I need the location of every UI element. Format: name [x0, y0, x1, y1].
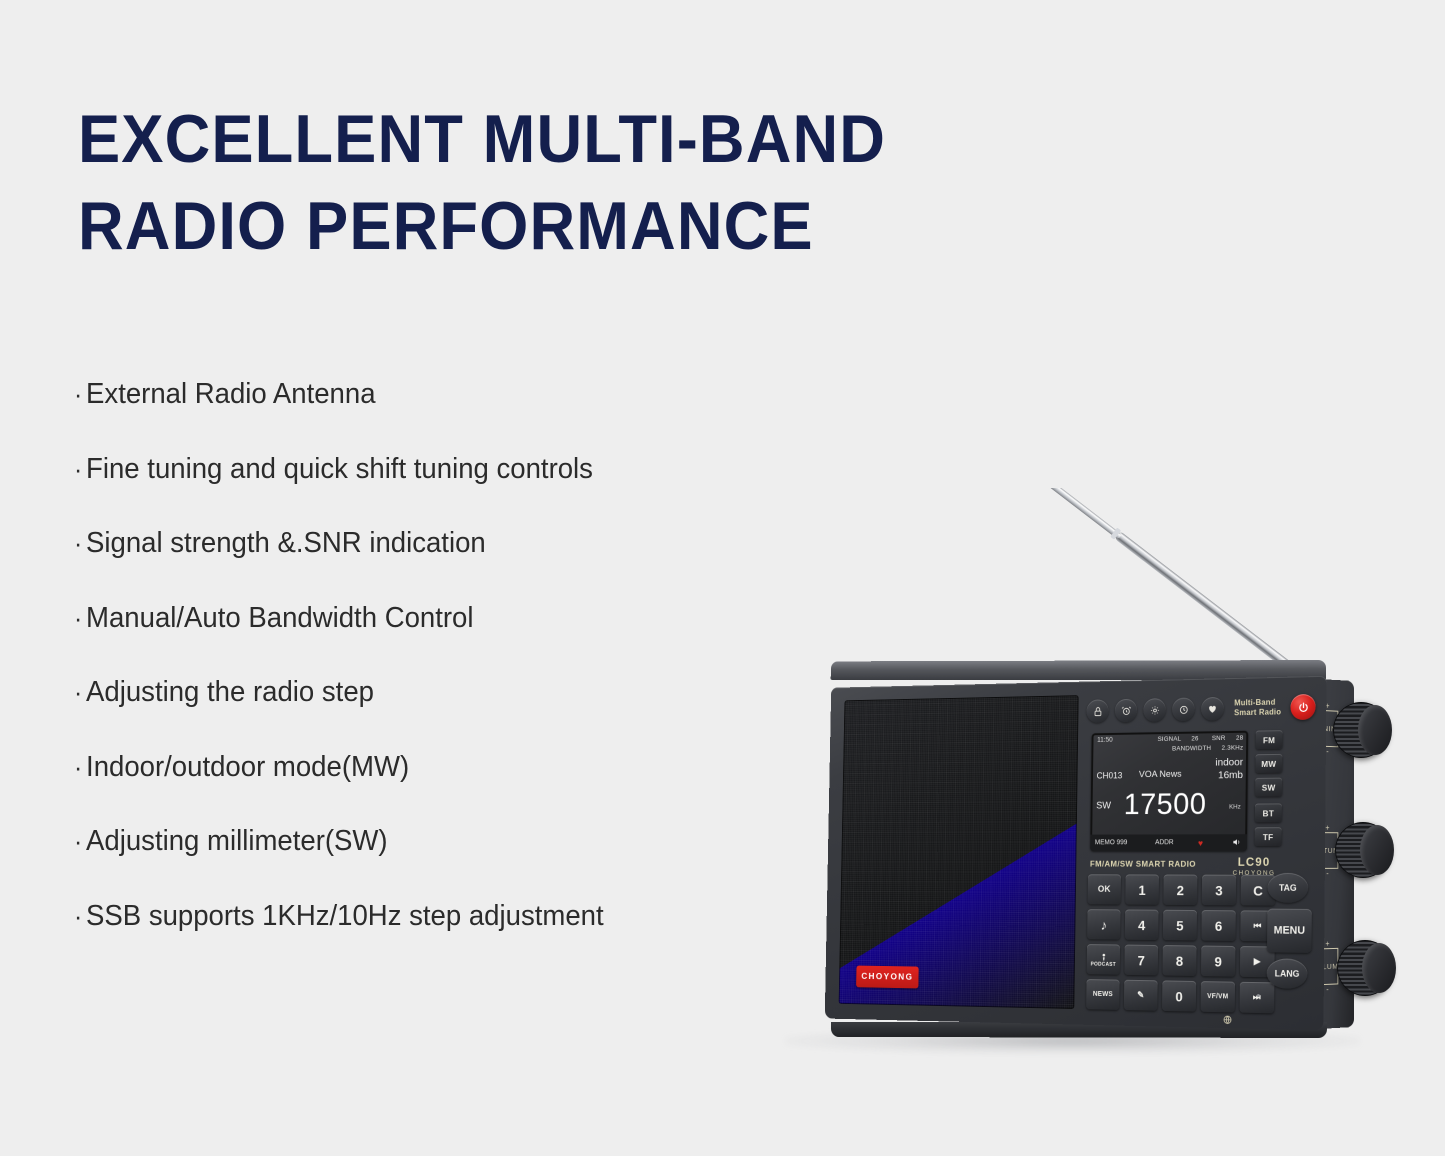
- feature-text: External Radio Antenna: [86, 380, 375, 409]
- list-item: · Manual/Auto Bandwidth Control: [74, 604, 739, 679]
- podcast-icon: [1098, 951, 1108, 962]
- key-9[interactable]: 9: [1201, 946, 1235, 977]
- key-3[interactable]: 3: [1202, 875, 1236, 906]
- lock-icon[interactable]: [1086, 699, 1108, 723]
- key-news[interactable]: NEWS: [1086, 979, 1120, 1010]
- bullet-icon: ·: [74, 381, 82, 407]
- key-8[interactable]: 8: [1162, 945, 1196, 976]
- gear-icon[interactable]: [1143, 698, 1166, 722]
- bullet-icon: ·: [74, 754, 82, 780]
- key-music-note[interactable]: ♪: [1087, 909, 1120, 939]
- lcd-signal-block: SIGNAL 26 SNR 28 BANDWIDTH 2.3KHz: [1157, 734, 1243, 754]
- lang-button[interactable]: LANG: [1267, 958, 1308, 989]
- lcd-time: 11:50: [1097, 737, 1113, 744]
- key-edit-icon[interactable]: ✎: [1124, 980, 1158, 1011]
- lcd-mode-indoor: indoor: [1215, 756, 1243, 769]
- lcd-snr-label: SNR: [1212, 735, 1226, 742]
- feature-text: Manual/Auto Bandwidth Control: [86, 604, 473, 633]
- key-podcast[interactable]: PODCAST: [1087, 944, 1120, 975]
- lcd-addr: ADDR: [1155, 839, 1174, 846]
- side-key-group: TAG MENU LANG: [1267, 873, 1317, 995]
- lcd-station-name: VOA News: [1139, 769, 1182, 780]
- top-button-row: Multi-Band Smart Radio: [1086, 692, 1319, 726]
- history-clock-icon[interactable]: [1172, 697, 1195, 721]
- brand-badge: CHOYONG: [856, 966, 919, 989]
- globe-icon: [1222, 1014, 1233, 1028]
- bullet-icon: ·: [74, 828, 82, 854]
- lcd-snr-value: 28: [1236, 735, 1243, 742]
- feature-text: Adjusting the radio step: [86, 678, 374, 707]
- lcd-speaker-icon: [1232, 837, 1242, 849]
- feature-list: · External Radio Antenna · Fine tuning a…: [74, 380, 774, 976]
- lcd-band: SW: [1096, 801, 1111, 812]
- tagline: Multi-Band Smart Radio: [1234, 698, 1281, 719]
- panel-caption: FM/AM/SW SMART RADIO: [1090, 859, 1196, 869]
- band-button-tf[interactable]: TF: [1255, 827, 1282, 846]
- key-ok[interactable]: OK: [1088, 874, 1121, 904]
- bullet-icon: ·: [74, 530, 82, 556]
- key-vf-vm[interactable]: VF/VM: [1201, 981, 1236, 1012]
- feature-text: Indoor/outdoor mode(MW): [86, 753, 409, 782]
- lcd-favorite-icon: ♥: [1198, 838, 1203, 848]
- key-4[interactable]: 4: [1125, 909, 1159, 940]
- tagline-line-2: Smart Radio: [1234, 707, 1281, 718]
- lcd-frequency: 17500: [1124, 786, 1207, 822]
- key-7[interactable]: 7: [1124, 945, 1158, 976]
- alarm-clock-icon[interactable]: [1115, 699, 1137, 723]
- band-button-bt[interactable]: BT: [1255, 803, 1282, 822]
- lcd-memo: MEMO 999: [1095, 839, 1128, 846]
- headline-line-1: EXCELLENT MULTI-BAND: [78, 96, 1055, 183]
- band-button-mw[interactable]: MW: [1255, 754, 1282, 773]
- band-button-fm[interactable]: FM: [1256, 730, 1283, 749]
- model-name: LC90: [1233, 855, 1276, 869]
- lcd-bandwidth-label: BANDWIDTH: [1172, 745, 1211, 752]
- tuning-knob[interactable]: [1333, 702, 1389, 758]
- headline-line-2: RADIO PERFORMANCE: [78, 183, 1055, 270]
- list-item: · Adjusting the radio step: [74, 678, 739, 753]
- list-item: · Indoor/outdoor mode(MW): [74, 753, 739, 828]
- heart-icon[interactable]: [1201, 697, 1224, 721]
- lcd-meter-band: 16mb: [1215, 769, 1243, 782]
- band-button-column: FM MW SW BT TF: [1255, 730, 1285, 851]
- feature-text: SSB supports 1KHz/10Hz step adjustment: [86, 902, 604, 931]
- list-item: · Fine tuning and quick shift tuning con…: [74, 455, 739, 530]
- lcd-display: 11:50 SIGNAL 26 SNR 28 BANDWIDTH 2.3KHz: [1090, 731, 1248, 851]
- band-button-sw[interactable]: SW: [1255, 778, 1282, 797]
- speaker-grille: CHOYONG: [839, 695, 1079, 1009]
- product-image-radio: + TUNING - + FINE TUNING - + VOLUME: [745, 470, 1445, 1110]
- lcd-mode-block: indoor 16mb: [1215, 756, 1243, 782]
- key-1[interactable]: 1: [1125, 874, 1159, 904]
- bullet-icon: ·: [74, 605, 82, 631]
- lcd-channel: CH013: [1097, 771, 1123, 781]
- key-0[interactable]: 0: [1162, 980, 1196, 1011]
- tag-button[interactable]: TAG: [1267, 873, 1308, 903]
- lcd-bandwidth-value: 2.3KHz: [1222, 744, 1244, 751]
- keypad: OK 1 2 3 C ♪ 4 5 6 ⏮ PODCAST: [1086, 874, 1275, 1013]
- key-5[interactable]: 5: [1163, 910, 1197, 941]
- radio-front-panel: CHOYONG: [825, 676, 1327, 1031]
- page-title: EXCELLENT MULTI-BAND RADIO PERFORMANCE: [78, 96, 1055, 270]
- lcd-signal-label: SIGNAL: [1158, 736, 1182, 743]
- control-panel: Multi-Band Smart Radio 11:50: [1082, 684, 1319, 1023]
- volume-knob[interactable]: [1337, 940, 1393, 996]
- list-item: · Adjusting millimeter(SW): [74, 827, 739, 902]
- bullet-icon: ·: [74, 456, 82, 482]
- lcd-signal-value: 26: [1191, 735, 1198, 742]
- fine-tuning-knob[interactable]: [1335, 822, 1391, 878]
- key-podcast-label: PODCAST: [1091, 962, 1116, 967]
- power-button[interactable]: [1290, 694, 1315, 720]
- status-led: [1257, 994, 1260, 997]
- bullet-icon: ·: [74, 903, 82, 929]
- list-item: · SSB supports 1KHz/10Hz step adjustment: [74, 902, 739, 977]
- lcd-status-bar: MEMO 999 ADDR ♥: [1090, 834, 1247, 851]
- feature-text: Fine tuning and quick shift tuning contr…: [86, 455, 593, 484]
- feature-text: Signal strength &.SNR indication: [86, 529, 486, 558]
- list-item: · External Radio Antenna: [74, 380, 739, 455]
- list-item: · Signal strength &.SNR indication: [74, 529, 739, 604]
- key-6[interactable]: 6: [1201, 910, 1235, 941]
- bullet-icon: ·: [74, 679, 82, 705]
- key-2[interactable]: 2: [1163, 875, 1197, 906]
- product-feature-banner: EXCELLENT MULTI-BAND RADIO PERFORMANCE ·…: [0, 0, 1445, 1156]
- menu-button[interactable]: MENU: [1267, 909, 1312, 953]
- feature-text: Adjusting millimeter(SW): [86, 827, 388, 856]
- lcd-frequency-unit: KHz: [1229, 804, 1241, 811]
